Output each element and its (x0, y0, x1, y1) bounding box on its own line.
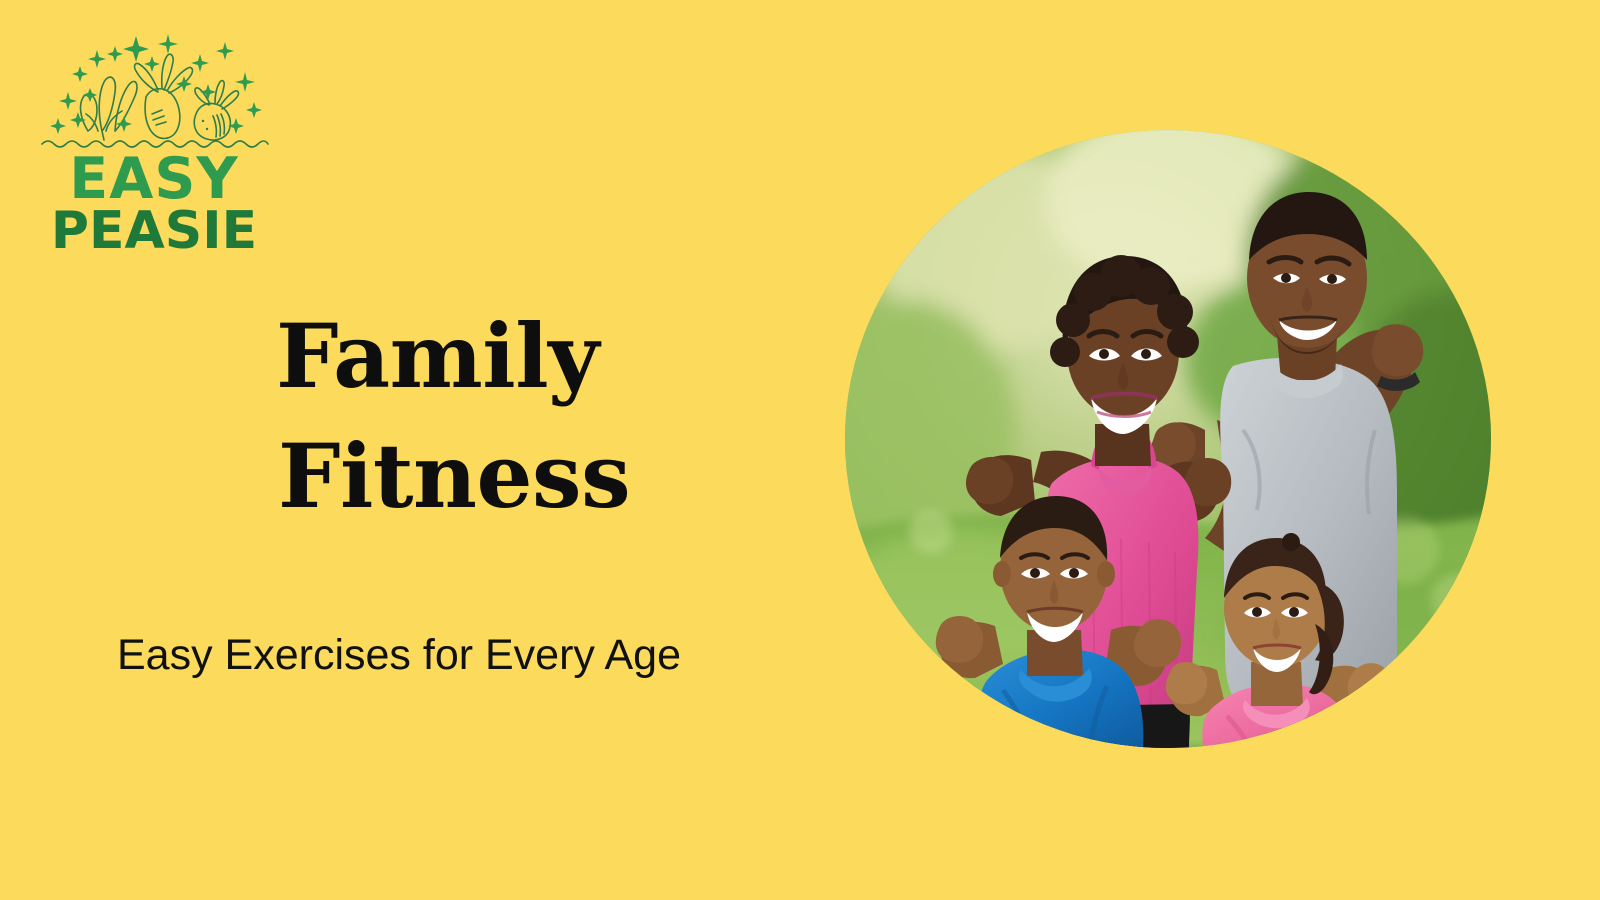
family-flexing-photo (845, 130, 1491, 748)
title-line-1: Family (276, 296, 796, 416)
logo-word-peasie: PEASIE (51, 201, 257, 256)
vegetable-sparkle-illustration (40, 30, 270, 152)
family-photo-illustration (845, 130, 1491, 748)
slide-canvas: EASY PEASIE Family Fitness Easy Exercise… (0, 0, 1600, 900)
easy-peasie-logo[interactable]: EASY PEASIE (40, 30, 270, 255)
page-title: Family Fitness (276, 296, 796, 536)
title-line-2: Fitness (278, 416, 796, 536)
logo-wordmark: EASY PEASIE (40, 148, 270, 256)
subtitle: Easy Exercises for Every Age (117, 629, 817, 681)
wavy-ground-line (42, 141, 268, 147)
